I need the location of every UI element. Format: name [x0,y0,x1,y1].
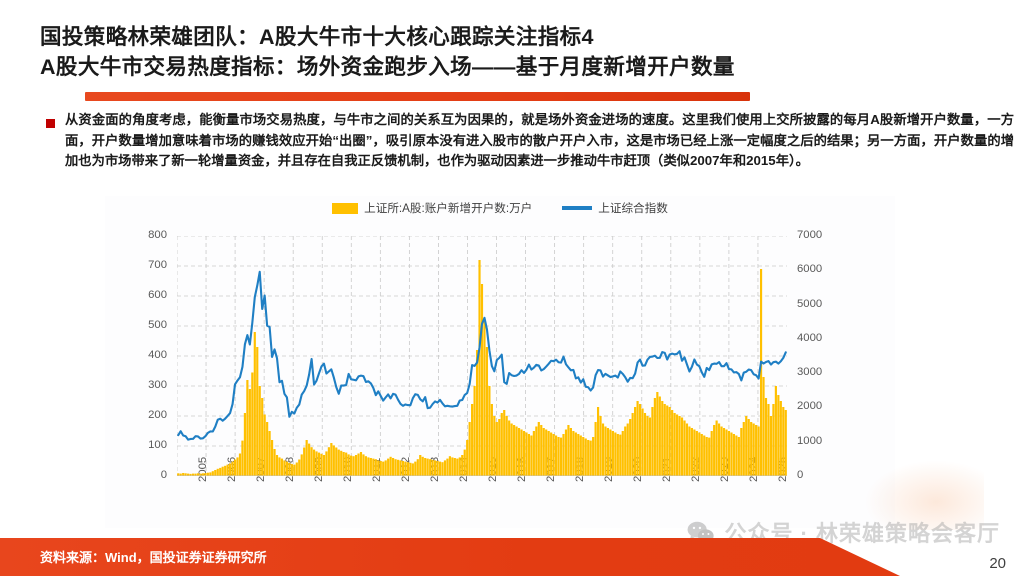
slide-root: 国投策略林荣雄团队：A股大牛市十大核心跟踪关注指标4 A股大牛市交易热度指标：场… [0,0,1024,576]
y-tick-right: 7000 [797,230,822,241]
y-tick-left: 0 [105,470,167,481]
chart-svg [177,236,787,476]
y-tick-right: 1000 [797,436,822,447]
y-tick-left: 200 [105,410,167,421]
body-paragraph: 从资金面的角度考虑，能衡量市场交易热度，与牛市之间的关系互为因果的，就是场外资金… [46,110,1014,172]
y-tick-right: 3000 [797,367,822,378]
y-tick-left: 700 [105,260,167,271]
page-title: 国投策略林荣雄团队：A股大牛市十大核心跟踪关注指标4 A股大牛市交易热度指标：场… [40,22,1005,82]
plot-area-wrapper: 8007006005004003002001000 70006000500040… [105,228,895,528]
y-tick-left: 800 [105,230,167,241]
y-tick-left: 500 [105,320,167,331]
legend-label-bars: 上证所:A股:账户新增开户数:万户 [364,200,532,216]
y-tick-right: 0 [797,470,803,481]
y-tick-left: 400 [105,350,167,361]
bar-series [177,260,787,476]
footer: 资料来源：Wind，国投证券证券研究所 20 [0,538,1024,576]
y-tick-left: 100 [105,440,167,451]
y-tick-right: 5000 [797,299,822,310]
legend-label-line: 上证综合指数 [598,200,668,216]
chart-legend: 上证所:A股:账户新增开户数:万户 上证综合指数 [105,200,895,216]
legend-item-bars: 上证所:A股:账户新增开户数:万户 [332,200,532,216]
plot-area [177,236,787,476]
chart-container: 上证所:A股:账户新增开户数:万户 上证综合指数 800700600500400… [105,196,895,528]
footer-source-text: 资料来源：Wind，国投证券证券研究所 [40,547,267,566]
title-underline-bar [85,92,750,101]
title-line-2: A股大牛市交易热度指标：场外资金跑步入场——基于月度新增开户数量 [40,52,1005,82]
legend-line-swatch-icon [562,206,592,210]
legend-bar-swatch-icon [332,203,358,214]
y-tick-left: 600 [105,290,167,301]
y-tick-left: 300 [105,380,167,391]
title-line-1: 国投策略林荣雄团队：A股大牛市十大核心跟踪关注指标4 [40,22,1005,52]
bullet-square-icon [46,119,55,128]
y-tick-right: 4000 [797,333,822,344]
page-number: 20 [989,555,1006,572]
y-tick-right: 6000 [797,264,822,275]
paragraph-text: 从资金面的角度考虑，能衡量市场交易热度，与牛市之间的关系互为因果的，就是场外资金… [65,110,1014,172]
y-tick-right: 2000 [797,401,822,412]
legend-item-line: 上证综合指数 [562,200,668,216]
